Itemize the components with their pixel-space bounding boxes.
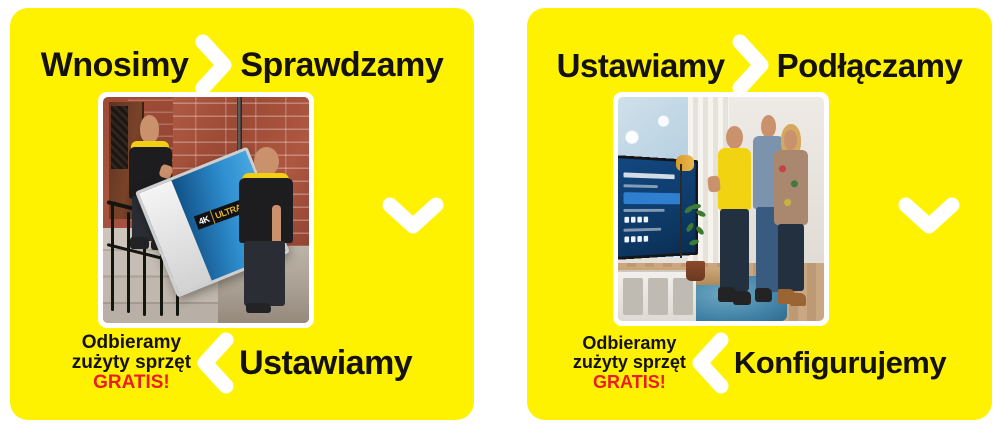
step-label-sprawdzamy: Sprawdzamy xyxy=(240,48,443,82)
panel-left-bottom-row: Odbieramy zużyty sprzęt GRATIS! Ustawiam… xyxy=(10,324,474,402)
service-steps-panel-right: Ustawiamy Podłączamy xyxy=(527,8,992,420)
recycle-line-1: Odbieramy xyxy=(72,333,191,353)
photo-frame-installation xyxy=(613,92,829,326)
recycle-gratis-badge: GRATIS! xyxy=(573,373,686,392)
chevron-right-icon xyxy=(731,34,771,96)
photo-frame-delivery: 4K ULTRA HD xyxy=(98,92,314,328)
recycle-note-right: Odbieramy zużyty sprzęt GRATIS! xyxy=(573,334,686,392)
recycle-gratis-badge: GRATIS! xyxy=(72,373,191,393)
panel-right-top-step-row: Ustawiamy Podłączamy xyxy=(527,36,992,94)
customer-female xyxy=(773,124,810,312)
chevron-right-icon xyxy=(194,34,234,96)
infographic-stage: Wnosimy Sprawdzamy xyxy=(0,0,1000,429)
step-label-ustawiamy-top: Ustawiamy xyxy=(557,49,725,82)
panel-left-flow-down xyxy=(382,196,444,238)
recycle-line-2: zużyty sprzęt xyxy=(573,353,686,372)
step-label-wnosimy: Wnosimy xyxy=(41,48,189,82)
photo-delivery: 4K ULTRA HD xyxy=(103,97,309,323)
step-label-konfigurujemy: Konfigurujemy xyxy=(734,345,946,381)
technician xyxy=(717,126,752,305)
panel-right-flow-down xyxy=(898,196,960,238)
panel-right-bottom-row: Odbieramy zużyty sprzęt GRATIS! Konfigur… xyxy=(527,324,992,402)
chevron-left-icon xyxy=(195,332,235,394)
worker-front xyxy=(239,147,293,310)
step-label-podlaczamy: Podłączamy xyxy=(777,49,963,82)
chevron-down-icon xyxy=(898,196,960,238)
step-label-ustawiamy: Ustawiamy xyxy=(239,344,412,383)
photo-installation xyxy=(618,97,824,321)
panel-left-top-step-row: Wnosimy Sprawdzamy xyxy=(10,36,474,94)
recycle-line-1: Odbieramy xyxy=(573,334,686,353)
recycle-note-left: Odbieramy zużyty sprzęt GRATIS! xyxy=(72,333,191,394)
chevron-down-icon xyxy=(382,196,444,238)
service-steps-panel-left: Wnosimy Sprawdzamy xyxy=(10,8,474,420)
chevron-left-icon xyxy=(690,332,730,394)
recycle-line-2: zużyty sprzęt xyxy=(72,353,191,373)
